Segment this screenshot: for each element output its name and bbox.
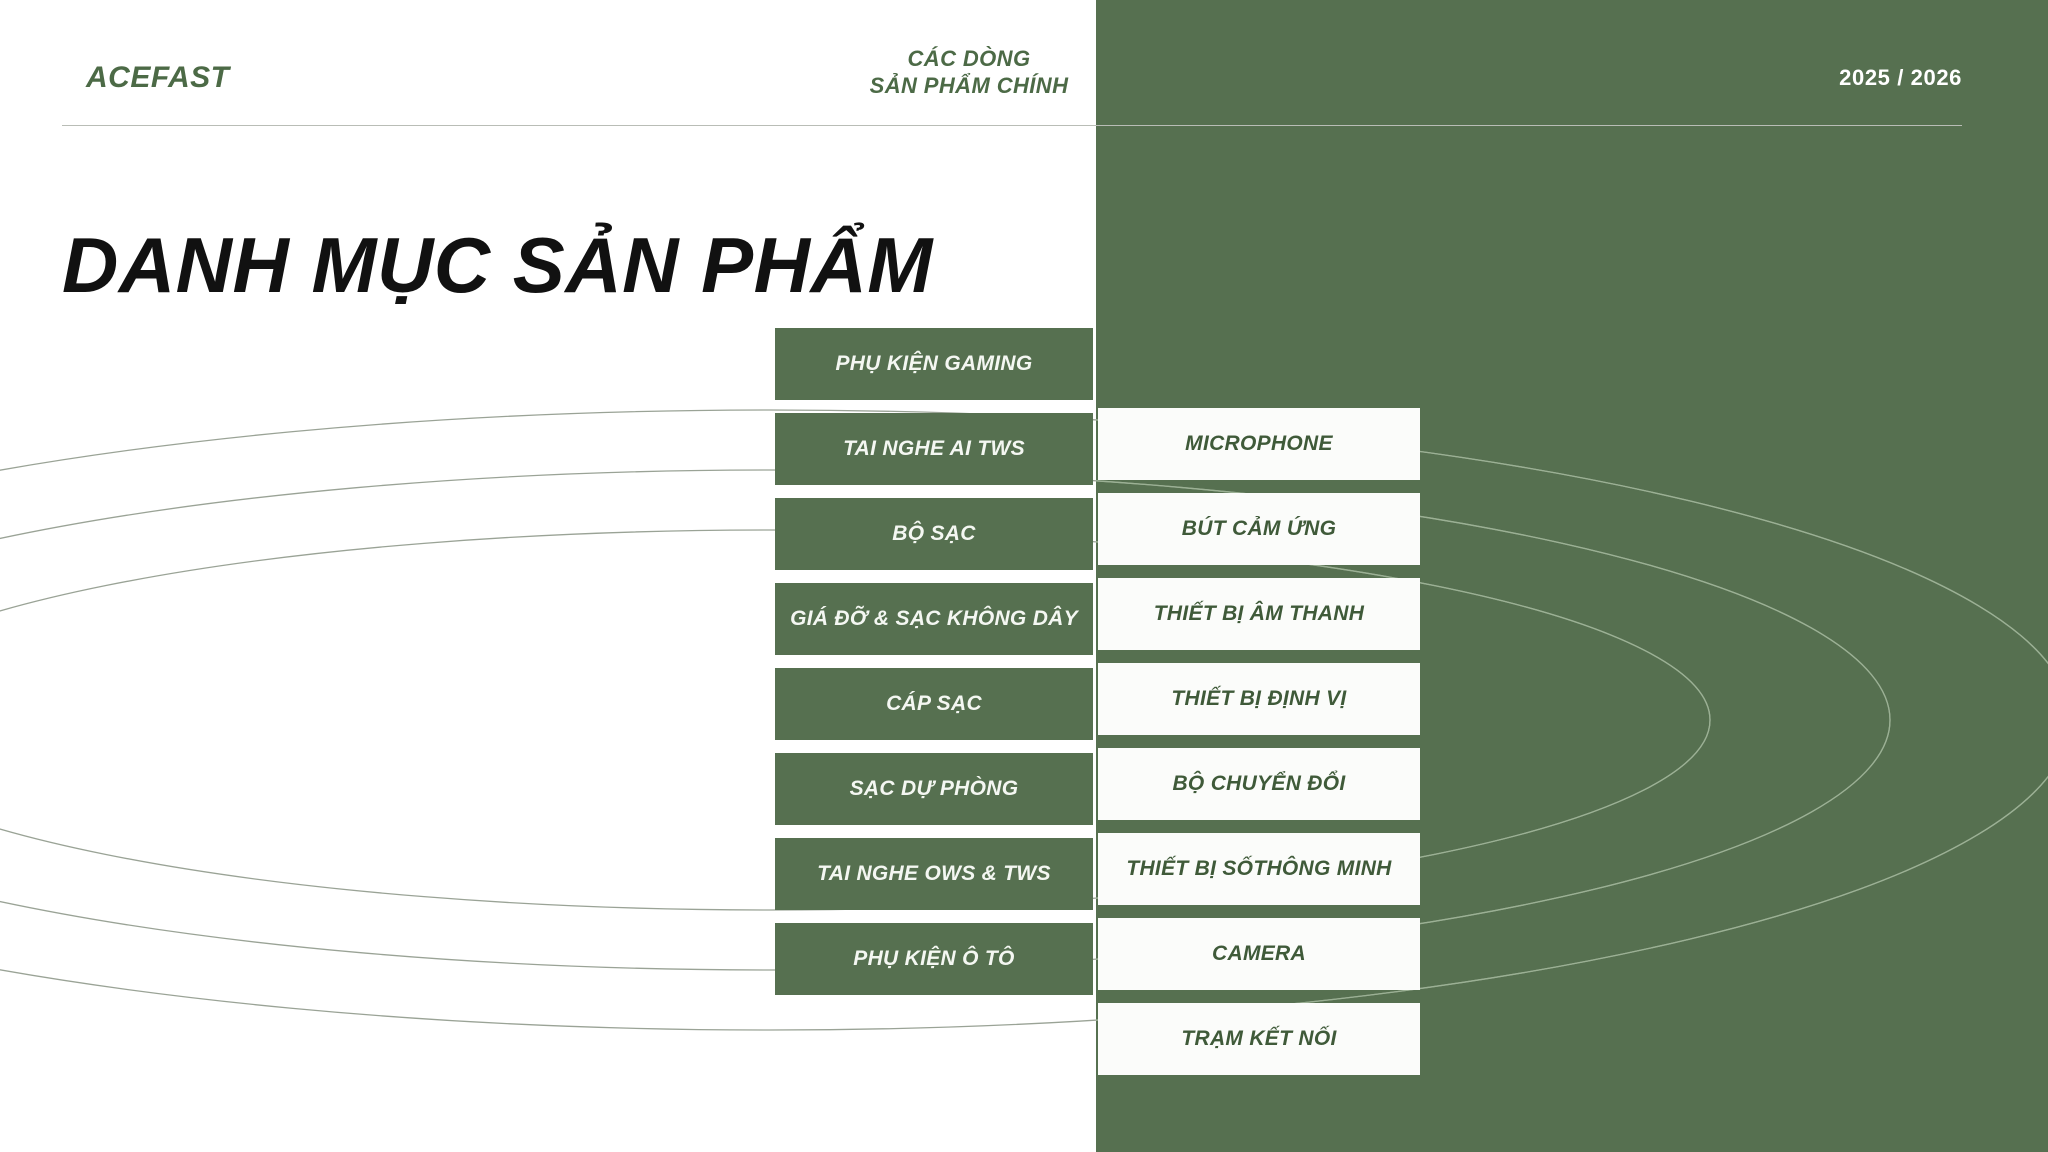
category-box-right-1[interactable]: MICROPHONE (1098, 408, 1420, 480)
category-box-left-3[interactable]: BỘ SẠC (775, 498, 1093, 570)
year-range-label: 2025 / 2026 (1839, 65, 1962, 91)
category-label: PHỤ KIỆN Ô TÔ (853, 947, 1014, 972)
category-box-left-5[interactable]: CÁP SẠC (775, 668, 1093, 740)
category-box-right-8[interactable]: TRẠM KẾT NỐI (1098, 1003, 1420, 1075)
category-box-right-3[interactable]: THIẾT BỊ ÂM THANH (1098, 578, 1420, 650)
category-label-line: THÔNG MINH (1253, 857, 1391, 881)
category-label: TAI NGHE OWS & TWS (817, 862, 1051, 887)
category-label: BỘ SẠC (892, 522, 975, 547)
category-label: BỘ CHUYỂN ĐỔI (1172, 772, 1345, 797)
header-subtitle-line2: SẢN PHẨM CHÍNH (838, 73, 1100, 100)
category-label: MICROPHONE (1185, 432, 1333, 457)
category-label: TRẠM KẾT NỐI (1181, 1027, 1336, 1052)
category-box-left-1[interactable]: PHỤ KIỆN GAMING (775, 328, 1093, 400)
header-subtitle: CÁC DÒNG SẢN PHẨM CHÍNH (838, 46, 1100, 100)
category-column-left: PHỤ KIỆN GAMINGTAI NGHE AI TWSBỘ SẠCGIÁ … (775, 328, 1093, 1008)
category-label: THIẾT BỊ ĐỊNH VỊ (1171, 687, 1346, 712)
header-divider-rule (62, 125, 1962, 126)
category-box-right-6[interactable]: THIẾT BỊ SỐTHÔNG MINH (1098, 833, 1420, 905)
category-label: SẠC DỰ PHÒNG (850, 777, 1019, 802)
category-label: PHỤ KIỆN GAMING (835, 352, 1032, 377)
category-column-right: MICROPHONEBÚT CẢM ỨNGTHIẾT BỊ ÂM THANHTH… (1098, 408, 1420, 1088)
logo-text: ACEFAST (86, 61, 230, 94)
category-box-left-7[interactable]: TAI NGHE OWS & TWS (775, 838, 1093, 910)
header-subtitle-line1: CÁC DÒNG (838, 46, 1100, 73)
category-box-left-6[interactable]: SẠC DỰ PHÒNG (775, 753, 1093, 825)
category-box-right-2[interactable]: BÚT CẢM ỨNG (1098, 493, 1420, 565)
category-box-left-8[interactable]: PHỤ KIỆN Ô TÔ (775, 923, 1093, 995)
page-title: DANH MỤC SẢN PHẨM (62, 220, 933, 311)
category-label: GIÁ ĐỠ & SẠC KHÔNG DÂY (790, 607, 1078, 632)
acefast-logo: ACEFAST (86, 61, 230, 95)
category-label: BÚT CẢM ỨNG (1182, 517, 1336, 542)
category-label: CÁP SẠC (886, 692, 982, 717)
category-box-right-4[interactable]: THIẾT BỊ ĐỊNH VỊ (1098, 663, 1420, 735)
category-box-left-4[interactable]: GIÁ ĐỠ & SẠC KHÔNG DÂY (775, 583, 1093, 655)
slide-canvas: ACEFAST CÁC DÒNG SẢN PHẨM CHÍNH 2025 / 2… (0, 0, 2048, 1152)
category-label: THIẾT BỊ ÂM THANH (1154, 602, 1364, 627)
category-box-right-7[interactable]: CAMERA (1098, 918, 1420, 990)
category-box-left-2[interactable]: TAI NGHE AI TWS (775, 413, 1093, 485)
category-box-right-5[interactable]: BỘ CHUYỂN ĐỔI (1098, 748, 1420, 820)
category-label-line: THIẾT BỊ SỐ (1126, 857, 1253, 881)
category-label: TAI NGHE AI TWS (843, 437, 1025, 462)
category-label: CAMERA (1212, 942, 1306, 967)
